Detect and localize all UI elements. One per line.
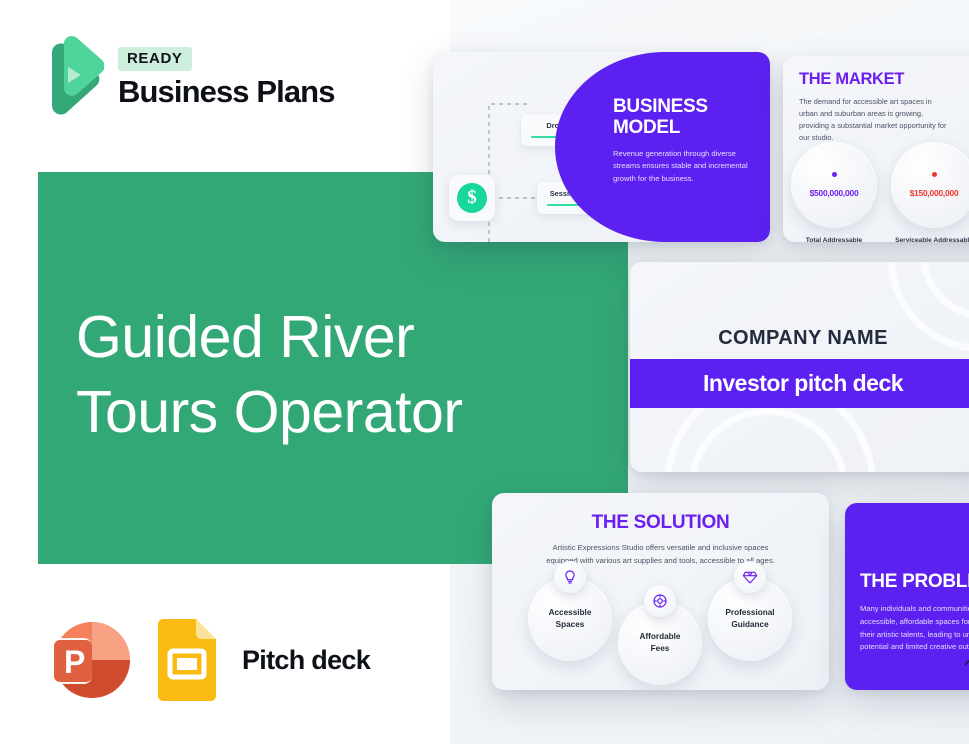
solution-items: Accessible Spaces Affordable Fees xyxy=(492,571,829,675)
slide-body: Many individuals and communities lack ac… xyxy=(860,603,969,654)
market-metrics: $500,000,000 Total Addressable Market (T… xyxy=(791,142,969,242)
solution-item-professional-guidance[interactable]: Professional Guidance xyxy=(708,577,792,661)
solution-item-accessible-spaces[interactable]: Accessible Spaces xyxy=(528,577,612,661)
svg-text:P: P xyxy=(64,644,85,680)
page-canvas: Guided River Tours Operator READY Busine… xyxy=(0,0,969,744)
caption-line-1: Serviceable Addressable xyxy=(891,236,969,242)
slide-the-market[interactable]: THE MARKET The demand for accessible art… xyxy=(783,56,969,242)
lightbulb-icon xyxy=(554,561,586,593)
slide-the-problem[interactable]: THE PROBLEM Many individuals and communi… xyxy=(845,503,969,690)
metric-amount: $500,000,000 xyxy=(810,188,859,198)
slide-the-solution[interactable]: THE SOLUTION Artistic Expressions Studio… xyxy=(492,493,829,690)
company-subtitle-bar: Investor pitch deck xyxy=(630,359,969,408)
item-label: Professional Guidance xyxy=(725,607,774,631)
curved-arrow-icon xyxy=(963,645,969,675)
slide-title: THE SOLUTION xyxy=(492,512,829,534)
market-metric-tam[interactable]: $500,000,000 Total Addressable Market (T… xyxy=(791,142,877,242)
slide-title-line-2: MODEL xyxy=(613,117,756,138)
brand-text: READY Business Plans xyxy=(118,43,335,110)
brand-lockup[interactable]: READY Business Plans xyxy=(38,36,335,116)
item-label: Accessible Spaces xyxy=(549,607,592,631)
company-subtitle: Investor pitch deck xyxy=(630,370,969,397)
business-model-purple-shape: BUSINESS MODEL Revenue generation throug… xyxy=(555,52,770,242)
metric-caption: Serviceable Addressable Market (SAM) xyxy=(891,236,969,242)
slide-title: THE MARKET xyxy=(799,70,969,89)
solution-item-affordable-fees[interactable]: Affordable Fees xyxy=(618,601,702,685)
page-title: Guided River Tours Operator xyxy=(76,300,556,450)
label-line-2: Fees xyxy=(640,643,681,655)
currency-symbol: $ xyxy=(457,183,487,213)
hero-title-line-2: Tours Operator xyxy=(76,375,556,450)
slide-business-model[interactable]: Drop-in Fees Session Workshops Commissio… xyxy=(433,52,770,242)
metric-dot xyxy=(932,172,937,177)
filetype-label: Pitch deck xyxy=(242,645,370,676)
market-metric-sam[interactable]: $150,000,000 Serviceable Addressable Mar… xyxy=(891,142,969,242)
metric-dot xyxy=(832,172,837,177)
slide-company-name[interactable]: COMPANY NAME Investor pitch deck xyxy=(630,262,969,472)
label-line-1: Affordable xyxy=(640,631,681,643)
slide-title: THE PROBLEM xyxy=(860,571,969,593)
filetype-row: P Pitch deck xyxy=(40,618,370,702)
dollar-coin-icon: $ xyxy=(449,175,495,221)
metric-caption: Total Addressable Market (TAM) xyxy=(791,236,877,242)
play-triangles-logo-icon xyxy=(38,36,104,116)
label-line-1: Professional xyxy=(725,607,774,619)
label-line-2: Guidance xyxy=(725,619,774,631)
brand-name: Business Plans xyxy=(118,74,335,110)
caption-line-1: Total Addressable xyxy=(791,236,877,242)
slide-body: The demand for accessible art spaces in … xyxy=(799,96,951,144)
google-slides-file-icon xyxy=(154,618,220,702)
item-label: Affordable Fees xyxy=(640,631,681,655)
slide-body: Revenue generation through diverse strea… xyxy=(613,148,756,186)
ready-badge: READY xyxy=(118,47,192,71)
company-name: COMPANY NAME xyxy=(630,327,969,350)
slide-title: BUSINESS MODEL xyxy=(613,96,756,139)
diamond-icon xyxy=(734,561,766,593)
hero-title-line-1: Guided River xyxy=(76,300,556,375)
label-line-2: Spaces xyxy=(549,619,592,631)
slide-title-line-1: BUSINESS xyxy=(613,96,756,117)
metric-amount: $150,000,000 xyxy=(910,188,959,198)
target-icon xyxy=(644,585,676,617)
powerpoint-file-icon: P xyxy=(40,618,132,702)
label-line-1: Accessible xyxy=(549,607,592,619)
